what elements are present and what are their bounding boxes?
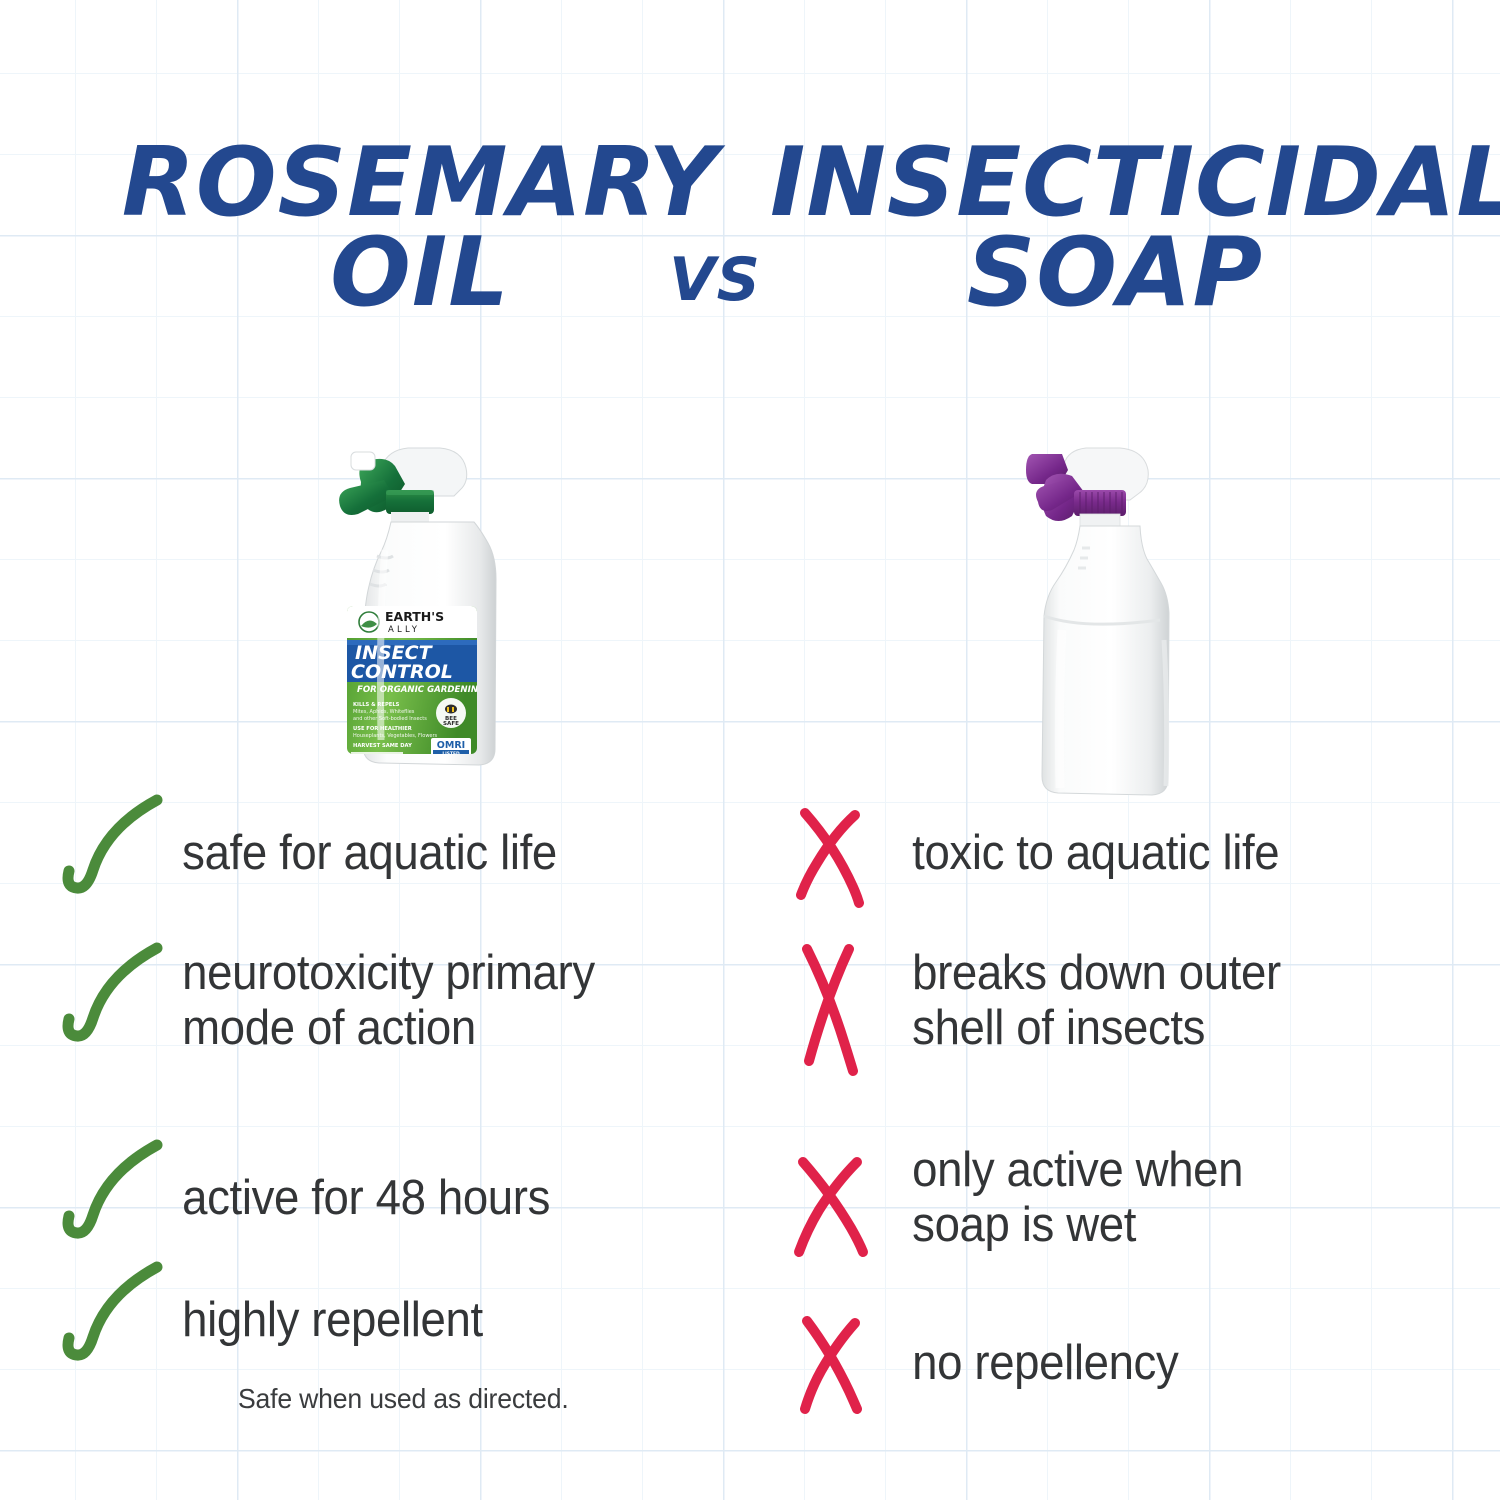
list-item-text: toxic to aquatic life: [901, 826, 1279, 881]
cross-icon: [785, 1140, 901, 1256]
list-item-text: safe for aquatic life: [171, 826, 557, 881]
cross-icon: [785, 943, 901, 1059]
list-item: toxic to aquatic life: [785, 795, 1308, 911]
list-item: breaks down outer shell of insects: [785, 943, 1309, 1059]
svg-text:SAFE: SAFE: [443, 721, 459, 727]
svg-text:CAUTION: Keep out: CAUTION: Keep out: [417, 773, 472, 779]
svg-text:ALLY: ALLY: [388, 625, 420, 635]
svg-text:EARTH'S: EARTH'S: [385, 609, 444, 624]
svg-text:and other Soft-bodied Insects: and other Soft-bodied Insects: [353, 716, 427, 722]
disclaimer-text: Safe when used as directed.: [238, 1383, 569, 1415]
list-item-text: only active when soap is wet: [901, 1143, 1243, 1253]
list-item: no repellency: [785, 1305, 1199, 1421]
svg-text:Houseplants, Vegetables, Flowe: Houseplants, Vegetables, Flowers: [353, 733, 438, 739]
svg-text:CONTROL: CONTROL: [351, 661, 453, 683]
product-image-insecticidal-soap: [1018, 430, 1198, 810]
product-images: EARTH'S ALLY INSECT CONTROL FOR ORGANIC …: [0, 430, 1500, 820]
product-image-rosemary-oil: EARTH'S ALLY INSECT CONTROL FOR ORGANIC …: [325, 430, 510, 810]
svg-text:of reach of children.: of reach of children.: [417, 779, 474, 785]
list-item: neurotoxicity primary mode of action: [55, 943, 627, 1059]
list-item-text: active for 48 hours: [171, 1171, 550, 1226]
comparison-columns: safe for aquatic life neurotoxicity prim…: [0, 795, 1500, 1455]
versus-label: VS: [640, 252, 790, 309]
headline-right-product: INSECTICIDALSOAP: [770, 138, 1460, 319]
list-item: active for 48 hours: [55, 1140, 579, 1256]
check-icon: [55, 1262, 171, 1378]
svg-text:HARVEST SAME DAY: HARVEST SAME DAY: [353, 743, 412, 749]
list-item-text: neurotoxicity primary mode of action: [171, 946, 595, 1056]
cross-icon: [785, 795, 901, 911]
check-icon: [55, 943, 171, 1059]
list-item-text: no repellency: [901, 1336, 1178, 1391]
check-icon: [55, 795, 171, 911]
list-item: safe for aquatic life: [55, 795, 586, 911]
list-item: only active when soap is wet: [785, 1140, 1269, 1256]
list-item-text: highly repellent: [171, 1293, 483, 1348]
headline-left-product: ROSEMARYOIL: [110, 138, 730, 319]
svg-text:FOR ORGANIC GARDENING: FOR ORGANIC GARDENING: [357, 685, 485, 695]
list-item-text: breaks down outer shell of insects: [901, 946, 1281, 1056]
check-icon: [55, 1140, 171, 1256]
comparison-infographic: ROSEMARYOIL VS INSECTICIDALSOAP: [0, 0, 1500, 1500]
svg-text:OMRI: OMRI: [437, 740, 465, 751]
svg-text:KILLS & REPELS: KILLS & REPELS: [353, 702, 400, 708]
list-item: highly repellent: [55, 1262, 506, 1378]
cross-icon: [785, 1305, 901, 1421]
headline-block: ROSEMARYOIL VS INSECTICIDALSOAP: [0, 130, 1500, 370]
